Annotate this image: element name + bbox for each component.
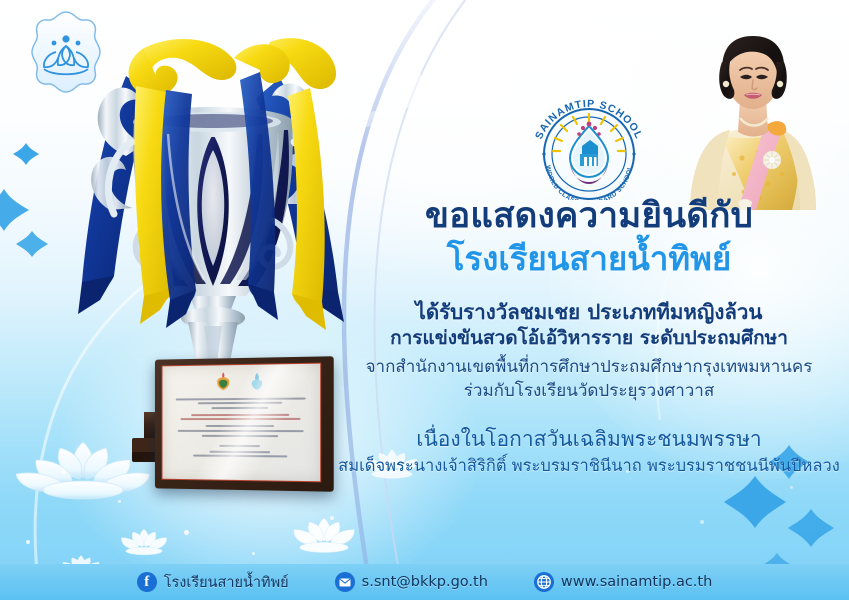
globe-glyph	[537, 575, 551, 589]
school-logo: SAINAMTIP SCHOOL WORLD CLASS STANDARD SC…	[524, 96, 654, 200]
plaque-certificate-paper	[162, 363, 322, 483]
contact-website[interactable]: www.sainamtip.ac.th	[534, 572, 712, 592]
message-text-block: ขอแสดงความยินดีกับ โรงเรียนสายน้ำทิพย์ ไ…	[336, 196, 842, 478]
organizer-line-1: จากสำนักงานเขตพื้นที่การศึกษาประถมศึกษาก…	[336, 355, 842, 379]
sparkle	[26, 540, 30, 544]
headline-school-name: โรงเรียนสายน้ำทิพย์	[336, 239, 842, 279]
facebook-icon[interactable]: f	[137, 572, 157, 592]
plaque-text-line	[211, 407, 268, 409]
award-line: ได้รับรางวัลชมเชย ประเภททีมหญิงล้วน	[336, 299, 842, 326]
email-label: s.snt@bkkp.go.th	[362, 574, 488, 590]
sparkle	[790, 486, 793, 489]
plaque-text-line	[205, 425, 274, 427]
contact-footer-bar: f โรงเรียนสายน้ำทิพย์ s.snt@bkkp.go.th	[0, 564, 849, 600]
occasion-line: เนื่องในโอกาสวันเฉลิมพระชนมพรรษา	[336, 425, 842, 453]
website-label: www.sainamtip.ac.th	[561, 574, 712, 590]
sparkle	[252, 552, 255, 555]
plaque-text-line	[202, 434, 278, 436]
royal-title-line: สมเด็จพระนางเจ้าสิริกิติ์ พระบรมราชินีนา…	[336, 455, 842, 478]
contact-email[interactable]: s.snt@bkkp.go.th	[335, 572, 488, 592]
facebook-label: โรงเรียนสายน้ำทิพย์	[164, 571, 289, 594]
plaque-text-line	[197, 402, 282, 405]
award-certificate-plaque	[155, 356, 334, 492]
competition-line: การแข่งขันสวดโอ้เอ้วิหารราย ระดับประถมศึ…	[336, 326, 842, 351]
headline-congratulations: ขอแสดงความยินดีกับ	[336, 196, 842, 237]
plaque-text-line	[210, 450, 270, 452]
plaque-text-line	[193, 455, 288, 458]
royal-seal-icon	[213, 371, 233, 395]
contact-facebook[interactable]: f โรงเรียนสายน้ำทิพย์	[137, 571, 289, 594]
plaque-signature-line	[219, 444, 260, 446]
email-icon[interactable]	[335, 572, 355, 592]
plaque-text-line	[181, 418, 301, 420]
school-seal-icon	[246, 371, 266, 395]
lotus-flower-decor	[372, 62, 468, 118]
plaque-text-line	[191, 414, 289, 416]
globe-icon[interactable]	[534, 572, 554, 592]
plaque-seals	[163, 370, 321, 396]
plaque-text-line	[176, 397, 305, 400]
congratulations-banner: SAINAMTIP SCHOOL WORLD CLASS STANDARD SC…	[0, 0, 849, 600]
queen-sirikit-portrait	[660, 2, 846, 210]
sparkle	[700, 520, 704, 524]
organizer-line-2: ร่วมกับโรงเรียนวัดประยุรวงศาวาส	[336, 379, 842, 403]
envelope-glyph	[339, 578, 351, 587]
plaque-text-line	[178, 430, 304, 432]
